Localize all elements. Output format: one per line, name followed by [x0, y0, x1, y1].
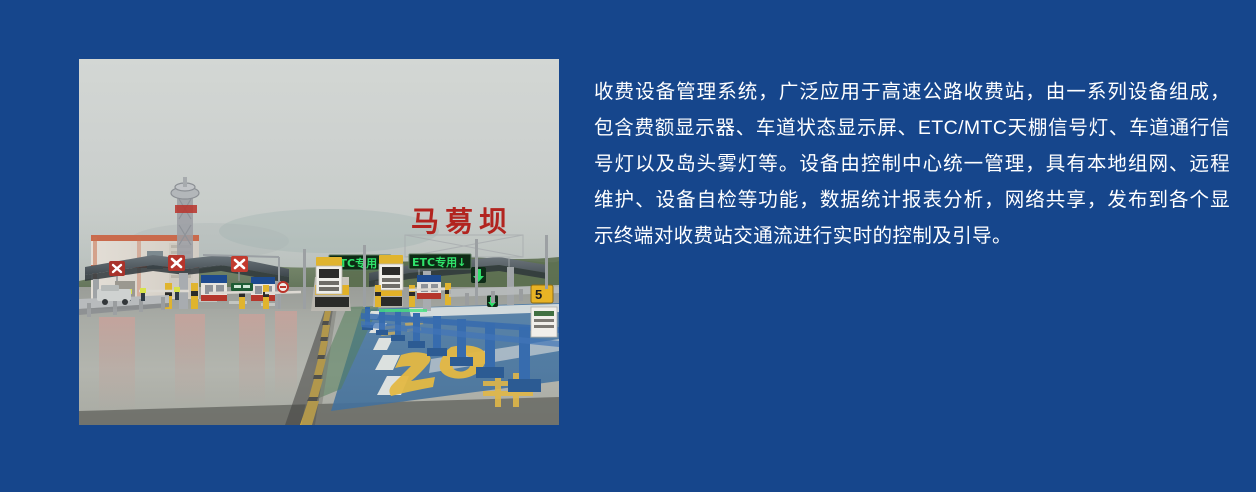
description-block: 收费设备管理系统，广泛应用于高速公路收费站，由一系列设备组成，包含费额显示器、车…: [594, 74, 1230, 254]
page-root: 马䓪坝 ETC专用↓ ETC专用↓: [0, 0, 1256, 492]
wet-sheen: [79, 309, 559, 425]
description-paragraph: 收费设备管理系统，广泛应用于高速公路收费站，由一系列设备组成，包含费额显示器、车…: [594, 74, 1230, 254]
canopy-signal-red-cross-3: [231, 256, 248, 272]
etc-lane-sign-2: ETC专用↓: [409, 254, 471, 269]
fee-display-left: [316, 257, 342, 294]
canopy-signal-green-arrow: [471, 267, 486, 283]
direction-sign-green: [231, 283, 253, 291]
toll-station-photo-illustration: 马䓪坝 ETC专用↓ ETC专用↓: [79, 59, 559, 425]
toll-station-photo: 马䓪坝 ETC专用↓ ETC专用↓: [79, 59, 559, 425]
canopy-signal-red-cross-2: [168, 255, 185, 271]
speed-limit-sign-text: 5: [535, 287, 542, 302]
fee-display-right: [379, 255, 403, 290]
canopy-signal-red-cross-1: [109, 261, 125, 276]
station-name-sign-text: 马䓪坝: [411, 205, 513, 238]
prohibition-sign: [278, 282, 288, 292]
toll-booth-right-1: [417, 275, 441, 299]
speed-limit-sign: 5: [531, 285, 553, 303]
etc-lane-sign-2-text: ETC专用↓: [412, 255, 466, 269]
toll-booth-left-1: [201, 275, 227, 301]
